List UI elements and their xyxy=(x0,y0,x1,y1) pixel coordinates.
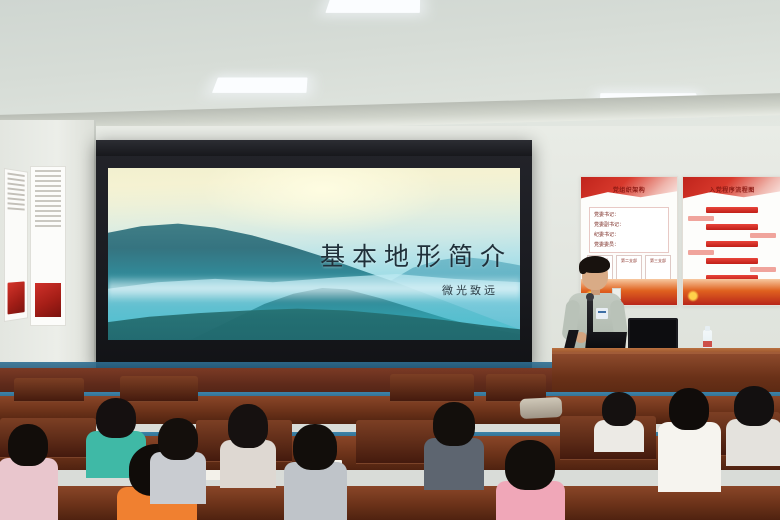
kid-ponytail xyxy=(660,388,718,492)
ceiling-light xyxy=(325,0,420,13)
child-torso xyxy=(0,458,58,520)
banner-row: 党委委员： xyxy=(594,241,664,248)
child-head xyxy=(433,402,475,446)
banner-info-box: 党委书记： 党委副书记： 纪委书记： 党委委员： xyxy=(589,207,669,253)
wall-poster xyxy=(30,166,66,326)
kid-longhair xyxy=(222,404,274,488)
projected-slide: 基本地形简介 微光致远 xyxy=(108,168,520,340)
kid-gray-right xyxy=(426,402,482,490)
child-torso xyxy=(726,419,780,466)
child-torso xyxy=(658,422,721,492)
kid-boy-back xyxy=(596,392,642,452)
presenter-hair xyxy=(580,256,610,273)
kid-pink-front xyxy=(498,440,562,520)
classroom-photo: 基本地形简介 微光致远 党组织架构 党委书记： 党委副书记： 纪委书记： 党委委… xyxy=(0,0,780,520)
child-head xyxy=(602,392,636,426)
kid-darkhair-mid xyxy=(152,418,204,504)
banner-row: 党委书记： xyxy=(594,211,664,218)
banner-flow-diagram xyxy=(688,207,776,277)
shirt-logo xyxy=(596,308,608,319)
kid-pink-left xyxy=(0,424,56,520)
child-head xyxy=(505,440,555,490)
banner-row: 党委副书记： xyxy=(594,221,664,228)
bag xyxy=(520,397,563,419)
wall-poster xyxy=(4,168,28,322)
bench-back xyxy=(14,378,84,402)
slide-title: 基本地形简介 xyxy=(320,237,512,273)
child-head xyxy=(96,398,136,438)
slide-subtitle: 微光致远 xyxy=(442,282,498,298)
poster-image xyxy=(35,283,61,317)
banner-row: 纪委书记： xyxy=(594,231,664,238)
child-head xyxy=(158,418,198,460)
bench-back xyxy=(390,374,474,402)
banner-title: 党组织架构 xyxy=(581,185,677,194)
banner-title: 入党程序流程图 xyxy=(683,185,780,194)
projector-screen: 基本地形简介 微光致远 xyxy=(96,140,532,368)
kid-right-edge xyxy=(728,386,780,466)
child-head xyxy=(293,424,337,470)
ceiling-light xyxy=(600,93,700,107)
child-head xyxy=(228,404,268,448)
child-torso xyxy=(284,462,347,520)
child-head xyxy=(734,386,774,426)
ceiling-light xyxy=(212,78,308,93)
poster-image xyxy=(8,281,25,314)
child-head xyxy=(8,424,48,466)
wall-banner-flowchart: 入党程序流程图 xyxy=(682,176,780,306)
child-head xyxy=(669,388,709,430)
banner-footer-graphic xyxy=(683,279,780,305)
kid-center xyxy=(286,424,344,520)
slide-sun-glow xyxy=(199,168,446,237)
